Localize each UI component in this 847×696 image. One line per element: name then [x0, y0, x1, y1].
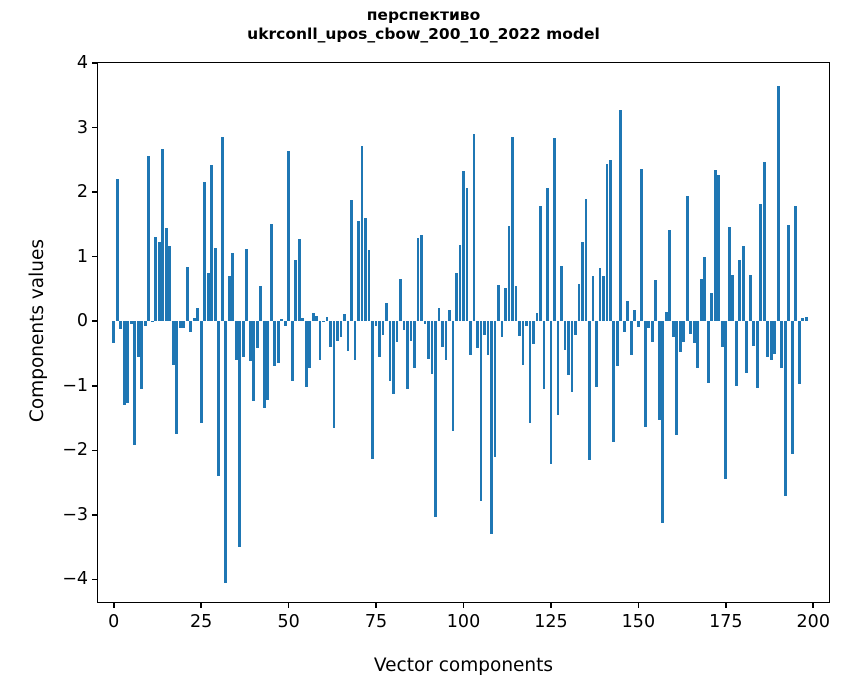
bar	[515, 286, 518, 322]
bar	[270, 224, 273, 321]
bar	[721, 321, 724, 347]
bar	[322, 321, 325, 322]
bar	[420, 235, 423, 321]
y-tick-label: −1	[62, 376, 88, 396]
bar	[707, 321, 710, 382]
x-tick-mark	[375, 602, 377, 608]
bar	[112, 321, 115, 342]
bar	[675, 321, 678, 435]
bar	[497, 285, 500, 321]
bar	[770, 321, 773, 360]
bar	[340, 321, 343, 337]
chart-title: перспективо ukrconll_upos_cbow_200_10_20…	[0, 6, 847, 44]
bar	[494, 321, 497, 457]
bar	[357, 221, 360, 321]
bar	[585, 199, 588, 322]
bar	[794, 206, 797, 322]
bar	[259, 286, 262, 322]
bars-container	[98, 63, 829, 602]
bar	[693, 321, 696, 343]
bar	[672, 321, 675, 337]
bar	[210, 165, 213, 321]
bar	[595, 321, 598, 387]
bar	[679, 321, 682, 352]
bar	[805, 317, 808, 322]
bar	[682, 321, 685, 342]
x-tick-label: 25	[190, 612, 212, 632]
x-tick-label: 75	[365, 612, 387, 632]
bar	[165, 228, 168, 322]
y-tick-mark	[92, 256, 98, 258]
bar	[483, 321, 486, 335]
bar	[294, 260, 297, 321]
bar	[161, 149, 164, 321]
bar	[189, 321, 192, 331]
bar	[147, 156, 150, 321]
bar	[599, 268, 602, 321]
bar	[406, 321, 409, 389]
x-tick-mark	[550, 602, 552, 608]
y-tick-mark	[92, 127, 98, 129]
bar	[333, 321, 336, 428]
bar	[571, 321, 574, 392]
y-tick-label: 3	[77, 118, 88, 138]
bar	[546, 188, 549, 322]
bar	[455, 273, 458, 321]
bar	[382, 321, 385, 335]
x-axis-label: Vector components	[97, 655, 830, 676]
bar	[336, 321, 339, 340]
bar	[452, 321, 455, 431]
bar	[441, 321, 444, 347]
bar	[389, 321, 392, 381]
bar	[508, 226, 511, 321]
bar	[780, 321, 783, 367]
bar	[480, 321, 483, 500]
bar	[438, 308, 441, 322]
bar	[696, 321, 699, 367]
bar	[609, 160, 612, 321]
bar	[403, 321, 406, 330]
bar	[399, 279, 402, 322]
bar	[777, 86, 780, 322]
bar	[581, 242, 584, 321]
bar	[203, 182, 206, 321]
bar	[144, 321, 147, 326]
bar	[228, 276, 231, 321]
bar	[273, 321, 276, 366]
bar	[448, 310, 451, 322]
bar	[116, 179, 119, 321]
x-tick-label: 0	[108, 612, 119, 632]
bar	[368, 250, 371, 321]
bar	[759, 204, 762, 321]
bar	[522, 321, 525, 365]
bar	[787, 225, 790, 321]
bar	[518, 321, 521, 336]
bar	[637, 321, 640, 327]
y-tick-label: 1	[77, 247, 88, 267]
bar	[476, 321, 479, 347]
bar	[277, 321, 280, 363]
bar	[525, 321, 528, 326]
bar	[553, 138, 556, 321]
bar	[256, 321, 259, 348]
bar	[752, 321, 755, 346]
bar	[130, 321, 133, 324]
bar	[343, 314, 346, 321]
bar	[592, 276, 595, 321]
plot-axes: −4−3−2−101234 0255075100125150175200	[97, 62, 830, 603]
bar	[427, 321, 430, 358]
bar	[578, 284, 581, 321]
bar	[742, 246, 745, 322]
bar	[550, 321, 553, 464]
bar	[329, 321, 332, 347]
bar	[728, 227, 731, 321]
bar	[431, 321, 434, 374]
bar	[745, 321, 748, 373]
bar	[619, 110, 622, 321]
bar	[424, 321, 427, 324]
bar	[658, 321, 661, 420]
bar	[224, 321, 227, 582]
bar	[738, 260, 741, 321]
bar	[689, 321, 692, 334]
bar	[574, 321, 577, 335]
bar	[140, 321, 143, 389]
bar	[214, 248, 217, 321]
bar	[137, 321, 140, 357]
bar	[396, 321, 399, 342]
bar	[633, 310, 636, 322]
bar	[326, 317, 329, 322]
bar	[301, 318, 304, 321]
x-tick-mark	[113, 602, 115, 608]
x-tick-label: 100	[447, 612, 480, 632]
bar	[235, 321, 238, 360]
bar	[473, 134, 476, 321]
bar	[364, 218, 367, 321]
bar	[172, 321, 175, 365]
bar	[763, 162, 766, 321]
bar	[626, 301, 629, 321]
bar	[119, 321, 122, 329]
bar	[466, 188, 469, 321]
bar	[207, 273, 210, 321]
bar	[217, 321, 220, 476]
bar	[612, 321, 615, 442]
bar	[252, 321, 255, 400]
bar	[175, 321, 178, 433]
bar	[462, 171, 465, 321]
bar	[735, 321, 738, 386]
bar	[560, 266, 563, 322]
x-tick-label: 50	[277, 612, 299, 632]
bar	[245, 249, 248, 321]
y-tick-mark	[92, 514, 98, 516]
bar	[567, 321, 570, 375]
bar	[469, 321, 472, 355]
bar	[193, 318, 196, 321]
bar	[686, 196, 689, 321]
bar	[654, 280, 657, 321]
x-tick-label: 200	[797, 612, 830, 632]
bar	[200, 321, 203, 423]
bar	[714, 170, 717, 321]
bar	[564, 321, 567, 350]
bar	[385, 303, 388, 321]
bar	[186, 267, 189, 321]
bar	[557, 321, 560, 415]
x-tick-mark	[288, 602, 290, 608]
bar	[312, 313, 315, 321]
y-tick-label: 4	[77, 53, 88, 73]
bar	[298, 239, 301, 321]
bar	[651, 321, 654, 342]
bar	[308, 321, 311, 368]
bar	[717, 175, 720, 322]
bar	[539, 206, 542, 322]
bar	[280, 319, 283, 322]
bar	[168, 246, 171, 321]
x-tick-label: 125	[534, 612, 567, 632]
bar	[347, 321, 350, 351]
y-tick-mark	[92, 62, 98, 64]
bar	[221, 137, 224, 321]
bar	[703, 257, 706, 322]
chart-title-line-1: перспективо	[0, 6, 847, 25]
bar	[536, 313, 539, 321]
x-tick-mark	[812, 602, 814, 608]
bar	[798, 321, 801, 384]
x-tick-mark	[463, 602, 465, 608]
bar	[417, 238, 420, 321]
chart-title-line-2: ukrconll_upos_cbow_200_10_2022 model	[0, 25, 847, 44]
bar	[459, 245, 462, 321]
bar	[371, 321, 374, 458]
bar	[231, 253, 234, 321]
bar	[543, 321, 546, 389]
x-tick-label: 175	[709, 612, 742, 632]
bar	[644, 321, 647, 427]
bar	[710, 293, 713, 321]
bar	[511, 137, 514, 321]
y-tick-label: 0	[77, 311, 88, 331]
bar	[445, 321, 448, 360]
bar	[700, 279, 703, 321]
bar	[154, 237, 157, 321]
bar	[291, 321, 294, 380]
bar	[791, 321, 794, 453]
bar	[126, 321, 129, 402]
bar	[630, 321, 633, 355]
x-tick-mark	[638, 602, 640, 608]
y-tick-mark	[92, 450, 98, 452]
bar	[361, 146, 364, 322]
bar	[410, 321, 413, 341]
x-tick-mark	[200, 602, 202, 608]
bar	[501, 321, 504, 337]
bar	[616, 321, 619, 366]
bar	[249, 321, 252, 361]
y-tick-label: −2	[62, 440, 88, 460]
bar	[668, 230, 671, 322]
y-tick-label: 2	[77, 182, 88, 202]
bar	[665, 312, 668, 322]
bar	[123, 321, 126, 405]
bar	[133, 321, 136, 445]
bar	[287, 151, 290, 321]
bar	[413, 321, 416, 367]
bar	[773, 321, 776, 354]
y-axis-label: Components values	[27, 60, 48, 601]
bar	[179, 321, 182, 327]
bar	[378, 321, 381, 357]
bar	[196, 308, 199, 321]
y-tick-mark	[92, 191, 98, 193]
bar	[392, 321, 395, 394]
bar	[756, 321, 759, 387]
bar	[647, 321, 650, 327]
x-tick-label: 150	[622, 612, 655, 632]
bar	[588, 321, 591, 460]
y-tick-label: −4	[62, 569, 88, 589]
bar	[375, 321, 378, 326]
bar	[238, 321, 241, 547]
bar	[784, 321, 787, 496]
bar	[504, 288, 507, 322]
bar	[182, 321, 185, 327]
bar	[263, 321, 266, 408]
y-tick-mark	[92, 579, 98, 581]
bar	[434, 321, 437, 517]
bar	[315, 316, 318, 321]
bar	[487, 321, 490, 355]
bar	[724, 321, 727, 479]
bar	[266, 321, 269, 400]
bar	[749, 275, 752, 321]
bar	[661, 321, 664, 522]
y-tick-label: −3	[62, 505, 88, 525]
bar	[350, 200, 353, 321]
bar	[623, 321, 626, 331]
bar	[354, 321, 357, 360]
bar	[305, 321, 308, 387]
bar	[151, 321, 154, 322]
bar	[284, 321, 287, 326]
bar	[766, 321, 769, 357]
y-tick-mark	[92, 320, 98, 322]
bar	[529, 321, 532, 422]
y-tick-mark	[92, 385, 98, 387]
bar	[319, 321, 322, 360]
bar	[490, 321, 493, 534]
bar	[242, 321, 245, 357]
x-tick-mark	[725, 602, 727, 608]
bar	[640, 169, 643, 321]
bar	[731, 275, 734, 321]
bar	[801, 318, 804, 321]
bar	[532, 321, 535, 344]
matplotlib-figure: перспективо ukrconll_upos_cbow_200_10_20…	[0, 0, 847, 696]
bar	[602, 276, 605, 321]
bar	[606, 164, 609, 322]
bar	[158, 242, 161, 321]
